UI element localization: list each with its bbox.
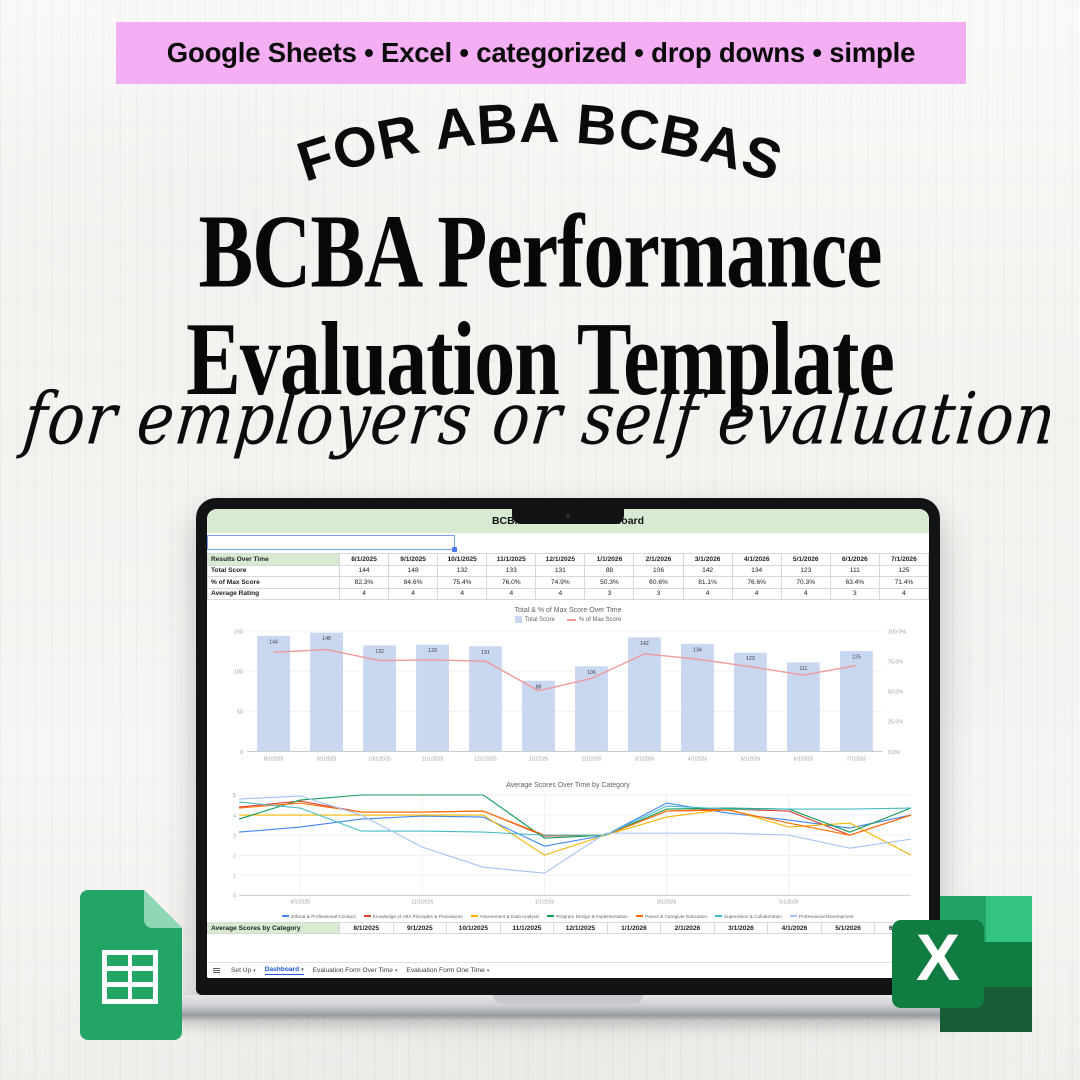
svg-text:5/1/2026: 5/1/2026: [779, 900, 799, 906]
svg-text:150: 150: [234, 629, 243, 635]
bar-chart-plot: 0501001500.0%25.0%50.0%75.0%100.0%144148…: [217, 625, 919, 773]
legend-line-icon: [636, 915, 643, 917]
svg-text:12/1/2025: 12/1/2025: [474, 756, 496, 762]
table-cell: 4: [487, 588, 536, 600]
table-column-header: 12/1/2025: [554, 922, 608, 934]
arched-eyebrow: FOR ABA BCBAS: [0, 92, 1080, 192]
table-cell: 125: [879, 565, 928, 577]
cell-selection-box[interactable]: [207, 535, 455, 550]
table-cell: 123: [781, 565, 830, 577]
table-cell: 60.6%: [634, 577, 683, 589]
legend-label: Ethical & Professional Conduct: [291, 914, 355, 919]
table-row-header: Results Over Time: [208, 554, 340, 566]
legend-item-total-score: Total Score: [515, 616, 555, 623]
laptop-mockup: BCBA Assessment Dashboard Results Over T…: [196, 498, 940, 1022]
legend-line-icon: [715, 915, 722, 917]
svg-text:9/1/2025: 9/1/2025: [290, 900, 310, 906]
legend-line-icon: [547, 915, 554, 917]
sheet-tab-evaluation-form-one-time[interactable]: Evaluation Form One Time▾: [406, 967, 489, 974]
table-header-row: Average Scores by Category8/1/20259/1/20…: [208, 922, 929, 934]
legend-item: Program Design & Implementation: [547, 914, 628, 919]
legend-label: Program Design & Implementation: [556, 914, 628, 919]
sheet-tab-set-up[interactable]: Set Up▾: [231, 967, 256, 974]
table-cell: 4: [683, 588, 732, 600]
svg-text:9/1/2025: 9/1/2025: [317, 756, 337, 762]
sheet-tab-dashboard[interactable]: Dashboard▾: [265, 966, 304, 975]
legend-item: Professional Development: [790, 914, 854, 919]
table-cell: 131: [536, 565, 585, 577]
selection-row: [207, 533, 929, 553]
table-column-header: 10/1/2025: [438, 554, 487, 566]
table-column-header: 1/1/2026: [585, 554, 634, 566]
chevron-down-icon[interactable]: ▾: [487, 968, 490, 974]
svg-text:FOR ABA BCBAS: FOR ABA BCBAS: [290, 92, 791, 192]
legend-item: Ethical & Professional Conduct: [282, 914, 355, 919]
legend-line-icon: [282, 915, 289, 917]
table-column-header: 2/1/2026: [634, 554, 683, 566]
microsoft-excel-icon: X: [888, 888, 1040, 1040]
table-header-row: Results Over Time8/1/20259/1/202510/1/20…: [208, 554, 929, 566]
table-cell: 71.4%: [879, 577, 928, 589]
table-row: Average Rating444443344434: [208, 588, 929, 600]
svg-text:132: 132: [375, 649, 384, 655]
table-cell: 133: [487, 565, 536, 577]
line-chart-plot: 0123459/1/202511/1/20251/1/20263/1/20265…: [217, 791, 919, 911]
chevron-down-icon[interactable]: ▾: [253, 968, 256, 974]
legend-line-icon: [567, 619, 576, 621]
svg-text:25.0%: 25.0%: [888, 720, 904, 726]
legend-line-icon: [471, 915, 478, 917]
svg-text:3/1/2026: 3/1/2026: [657, 900, 677, 906]
table-cell: 76.6%: [732, 577, 781, 589]
svg-text:133: 133: [428, 648, 437, 654]
legend-label: Assessment & Data Analysis: [480, 914, 540, 919]
legend-item: Parent & Caregiver Education: [636, 914, 707, 919]
legend-swatch-icon: [515, 616, 522, 623]
svg-text:11/1/2025: 11/1/2025: [411, 900, 433, 906]
svg-text:100: 100: [234, 670, 243, 676]
bar-chart-legend: Total Score % of Max Score: [217, 616, 919, 623]
table-column-header: 3/1/2026: [714, 922, 768, 934]
svg-text:4: 4: [233, 814, 236, 820]
page-subtitle: for employers or self evaluation: [0, 376, 1080, 461]
feature-banner-text: Google Sheets • Excel • categorized • dr…: [167, 37, 915, 69]
svg-text:3/1/2026: 3/1/2026: [635, 756, 655, 762]
table-column-header: 8/1/2025: [340, 554, 389, 566]
table-cell: 4: [389, 588, 438, 600]
legend-label: Knowledge of ABA Principles & Procedures: [373, 914, 463, 919]
table-column-header: 7/1/2026: [879, 554, 928, 566]
table-cell: 148: [389, 565, 438, 577]
svg-text:1/1/2026: 1/1/2026: [535, 900, 555, 906]
table-cell: 88: [585, 565, 634, 577]
svg-text:0: 0: [233, 894, 236, 900]
all-sheets-icon[interactable]: [213, 968, 220, 973]
legend-item: Supervision & Collaboration: [715, 914, 782, 919]
page-title-line-1: BCBA Performance: [0, 198, 1080, 305]
svg-text:134: 134: [693, 647, 702, 653]
svg-text:106: 106: [587, 670, 596, 676]
chevron-down-icon[interactable]: ▾: [301, 967, 304, 973]
svg-text:6/1/2026: 6/1/2026: [794, 756, 814, 762]
legend-label: Parent & Caregiver Education: [645, 914, 707, 919]
table-cell: 4: [781, 588, 830, 600]
table-cell: 70.3%: [781, 577, 830, 589]
svg-text:142: 142: [640, 641, 649, 647]
table-column-header: 6/1/2026: [830, 554, 879, 566]
table-cell: 84.6%: [389, 577, 438, 589]
legend-line-icon: [364, 915, 371, 917]
svg-text:50.0%: 50.0%: [888, 690, 904, 696]
table-column-header: 11/1/2025: [500, 922, 554, 934]
bar-chart-title: Total & % of Max Score Over Time: [217, 607, 919, 614]
sheet-tab-bar: Set Up▾Dashboard▾Evaluation Form Over Ti…: [207, 962, 929, 978]
svg-text:111: 111: [799, 666, 807, 672]
svg-text:100.0%: 100.0%: [888, 629, 907, 635]
sheet-tab-label: Set Up: [231, 967, 251, 974]
table-cell: 111: [830, 565, 879, 577]
table-column-header: 12/1/2025: [536, 554, 585, 566]
svg-text:0: 0: [240, 750, 243, 756]
table-column-header: 8/1/2025: [340, 922, 394, 934]
table-row-label: Average Rating: [208, 588, 340, 600]
table-column-header: 9/1/2025: [393, 922, 447, 934]
svg-text:2: 2: [233, 854, 236, 860]
svg-text:5: 5: [233, 794, 236, 800]
table-cell: 142: [683, 565, 732, 577]
legend-item: Assessment & Data Analysis: [471, 914, 540, 919]
legend-label: Supervision & Collaboration: [724, 914, 782, 919]
chevron-down-icon[interactable]: ▾: [395, 968, 398, 974]
table-cell: 50.3%: [585, 577, 634, 589]
legend-label: Professional Development: [799, 914, 854, 919]
svg-text:125: 125: [852, 655, 861, 661]
table-column-header: 2/1/2026: [661, 922, 715, 934]
table-cell: 4: [536, 588, 585, 600]
table-column-header: 10/1/2025: [447, 922, 501, 934]
table-column-header: 1/1/2026: [607, 922, 661, 934]
table-cell: 81.1%: [683, 577, 732, 589]
table-column-header: 3/1/2026: [683, 554, 732, 566]
table-cell: 4: [879, 588, 928, 600]
line-chart-title: Average Scores Over Time by Category: [217, 782, 919, 789]
svg-text:4/1/2026: 4/1/2026: [688, 756, 708, 762]
table-column-header: 5/1/2026: [821, 922, 875, 934]
table-column-header: 4/1/2026: [732, 554, 781, 566]
table-row-header: Average Scores by Category: [208, 922, 340, 934]
table-column-header: 4/1/2026: [768, 922, 822, 934]
line-chart-legend: Ethical & Professional ConductKnowledge …: [217, 912, 919, 920]
feature-banner: Google Sheets • Excel • categorized • dr…: [116, 22, 966, 84]
table-cell: 82.3%: [340, 577, 389, 589]
svg-text:7/1/2026: 7/1/2026: [847, 756, 867, 762]
table-cell: 4: [438, 588, 487, 600]
svg-text:8/1/2025: 8/1/2025: [264, 756, 284, 762]
table-cell: 75.4%: [438, 577, 487, 589]
sheet-tab-label: Dashboard: [265, 966, 299, 973]
average-scores-by-category-table: Average Scores by Category8/1/20259/1/20…: [207, 922, 929, 935]
sheet-tab-label: Evaluation Form One Time: [406, 967, 484, 974]
webcam-notch: [512, 509, 624, 524]
svg-text:50: 50: [237, 710, 243, 716]
svg-text:1/1/2026: 1/1/2026: [529, 756, 549, 762]
sheet-tab-label: Evaluation Form Over Time: [313, 967, 393, 974]
table-column-header: 11/1/2025: [487, 554, 536, 566]
table-cell: 4: [340, 588, 389, 600]
svg-text:3: 3: [233, 834, 236, 840]
webcam-icon: [566, 514, 570, 518]
svg-text:123: 123: [746, 656, 755, 662]
svg-text:X: X: [916, 920, 960, 994]
laptop-screen: BCBA Assessment Dashboard Results Over T…: [207, 509, 929, 978]
results-over-time-table: Results Over Time8/1/20259/1/202510/1/20…: [207, 553, 929, 600]
table-row-label: Total Score: [208, 565, 340, 577]
table-cell: 3: [585, 588, 634, 600]
table-cell: 106: [634, 565, 683, 577]
table-column-header: 5/1/2026: [781, 554, 830, 566]
svg-text:11/1/2025: 11/1/2025: [422, 756, 444, 762]
spreadsheet-app: BCBA Assessment Dashboard Results Over T…: [207, 509, 929, 934]
line-chart-block: Average Scores Over Time by Category 012…: [207, 775, 929, 921]
table-cell: 144: [340, 565, 389, 577]
legend-item: Knowledge of ABA Principles & Procedures: [364, 914, 463, 919]
google-sheets-icon: [68, 888, 192, 1040]
svg-text:131: 131: [481, 650, 490, 656]
legend-label: Total Score: [525, 617, 555, 623]
table-cell: 63.4%: [830, 577, 879, 589]
table-column-header: 9/1/2025: [389, 554, 438, 566]
table-cell: 3: [830, 588, 879, 600]
sheet-tab-evaluation-form-over-time[interactable]: Evaluation Form Over Time▾: [313, 967, 398, 974]
svg-text:148: 148: [322, 636, 331, 642]
table-row: % of Max Score82.3%84.6%75.4%76.0%74.9%5…: [208, 577, 929, 589]
svg-text:144: 144: [269, 639, 278, 645]
table-cell: 134: [732, 565, 781, 577]
svg-text:10/1/2025: 10/1/2025: [368, 756, 390, 762]
svg-text:5/1/2026: 5/1/2026: [741, 756, 761, 762]
table-cell: 3: [634, 588, 683, 600]
legend-line-icon: [790, 915, 797, 917]
legend-item-pct-max-score: % of Max Score: [567, 616, 621, 623]
bar-chart-block: Total & % of Max Score Over Time Total S…: [207, 600, 929, 775]
svg-text:2/1/2026: 2/1/2026: [582, 756, 602, 762]
table-row: Total Score14414813213313188106142134123…: [208, 565, 929, 577]
table-cell: 76.0%: [487, 577, 536, 589]
svg-text:1: 1: [233, 874, 236, 880]
table-row-label: % of Max Score: [208, 577, 340, 589]
legend-label: % of Max Score: [579, 617, 621, 623]
table-cell: 74.9%: [536, 577, 585, 589]
svg-text:0.0%: 0.0%: [888, 750, 901, 756]
table-cell: 4: [732, 588, 781, 600]
svg-text:75.0%: 75.0%: [888, 660, 904, 666]
table-cell: 132: [438, 565, 487, 577]
laptop-base: [168, 995, 968, 1015]
laptop-lid: BCBA Assessment Dashboard Results Over T…: [196, 498, 940, 995]
laptop-base-shadow: [150, 1015, 986, 1022]
